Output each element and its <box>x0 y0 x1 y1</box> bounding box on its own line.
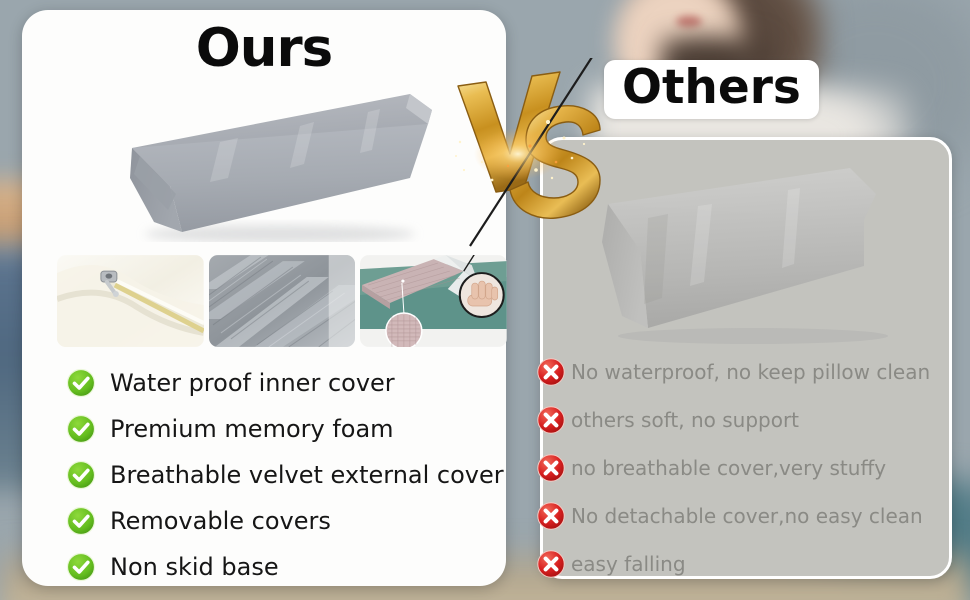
list-item-label: Removable covers <box>110 507 331 535</box>
ours-title: Ours <box>22 22 506 75</box>
comparison-infographic: Ours <box>0 0 970 600</box>
green-check-icon <box>66 552 96 582</box>
zipper-closeup-thumbnail <box>57 255 204 347</box>
list-item-label: Breathable velvet external cover <box>110 461 504 489</box>
ours-hero-image <box>110 82 440 242</box>
ours-feature-list: Water proof inner cover Premium memory f… <box>66 360 506 590</box>
non-skid-base-thumbnail <box>360 255 507 347</box>
list-item: Non skid base <box>66 544 506 590</box>
ours-card: Ours <box>22 10 506 586</box>
list-item-label: easy falling <box>571 552 686 576</box>
list-item: no breathable cover,very stuffy <box>536 444 956 492</box>
green-check-icon <box>66 414 96 444</box>
others-hero-image <box>578 158 918 346</box>
list-item-label: No waterproof, no keep pillow clean <box>571 360 930 384</box>
red-cross-icon <box>536 405 566 435</box>
background-person-lips <box>676 16 702 27</box>
list-item-label: No detachable cover,no easy clean <box>571 504 923 528</box>
others-title: Others <box>604 60 819 119</box>
green-check-icon <box>66 368 96 398</box>
velvet-texture-thumbnail <box>209 255 356 347</box>
green-check-icon <box>66 506 96 536</box>
list-item-label: Premium memory foam <box>110 415 394 443</box>
list-item: Premium memory foam <box>66 406 506 452</box>
green-check-icon <box>66 460 96 490</box>
ours-thumbnail-strip <box>57 255 507 347</box>
red-cross-icon <box>536 453 566 483</box>
list-item: Removable covers <box>66 498 506 544</box>
list-item-label: Non skid base <box>110 553 279 581</box>
red-cross-icon <box>536 549 566 579</box>
list-item: No waterproof, no keep pillow clean <box>536 348 956 396</box>
list-item-label: no breathable cover,very stuffy <box>571 456 886 480</box>
list-item: easy falling <box>536 540 956 588</box>
list-item-label: Water proof inner cover <box>110 369 395 397</box>
list-item-label: others soft, no support <box>571 408 799 432</box>
red-cross-icon <box>536 501 566 531</box>
others-feature-list: No waterproof, no keep pillow clean othe… <box>536 348 956 588</box>
list-item: others soft, no support <box>536 396 956 444</box>
list-item: Water proof inner cover <box>66 360 506 406</box>
list-item: Breathable velvet external cover <box>66 452 506 498</box>
list-item: No detachable cover,no easy clean <box>536 492 956 540</box>
red-cross-icon <box>536 357 566 387</box>
